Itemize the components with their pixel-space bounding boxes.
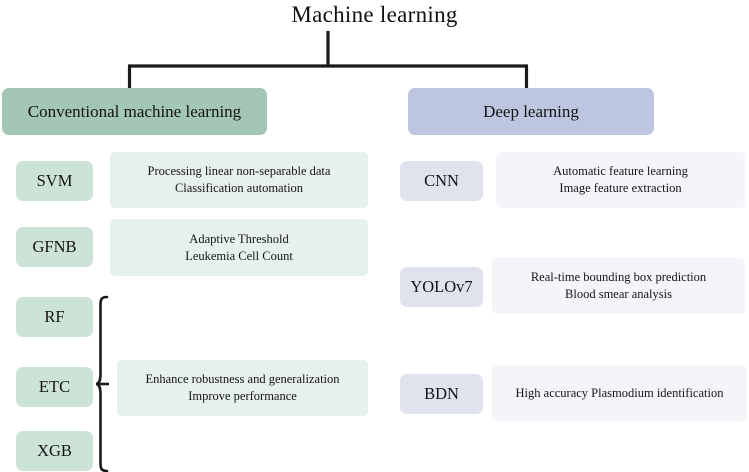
description-panel-yolov7: Real-time bounding box prediction Blood … (492, 258, 745, 314)
description-line: Processing linear non-separable data (148, 163, 331, 180)
grouping-brace-ensemble-methods (96, 294, 118, 472)
category-box-deep-learning[interactable]: Deep learning (408, 88, 654, 135)
description-line: Blood smear analysis (565, 286, 672, 303)
description-line: Classification automation (175, 180, 303, 197)
method-chip-bdn[interactable]: BDN (400, 374, 483, 414)
description-line: Image feature extraction (559, 180, 681, 197)
description-line: Leukemia Cell Count (185, 248, 293, 265)
description-panel-gfnb: Adaptive Threshold Leukemia Cell Count (110, 219, 368, 276)
description-line: Enhance robustness and generalization (145, 371, 339, 388)
method-chip-gfnb[interactable]: GFNB (16, 227, 93, 267)
description-line: Real-time bounding box prediction (531, 269, 706, 286)
method-chip-cnn[interactable]: CNN (400, 161, 483, 201)
method-chip-rf[interactable]: RF (16, 297, 93, 337)
description-panel-ensemble: Enhance robustness and generalization Im… (117, 360, 368, 416)
method-chip-yolov7[interactable]: YOLOv7 (400, 267, 483, 307)
method-chip-svm[interactable]: SVM (16, 161, 93, 201)
method-chip-etc[interactable]: ETC (16, 367, 93, 407)
diagram-title: Machine learning (0, 2, 749, 28)
description-panel-svm: Processing linear non-separable data Cla… (110, 152, 368, 208)
machine-learning-taxonomy-diagram: Machine learning Conventional machine le… (0, 0, 749, 472)
description-line: Improve performance (188, 388, 297, 405)
description-line: High accuracy Plasmodium identification (516, 385, 724, 402)
category-box-conventional-machine-learning[interactable]: Conventional machine learning (2, 88, 267, 135)
description-line: Automatic feature learning (553, 163, 688, 180)
description-panel-cnn: Automatic feature learning Image feature… (496, 152, 745, 208)
description-panel-bdn: High accuracy Plasmodium identification (492, 365, 747, 421)
method-chip-xgb[interactable]: XGB (16, 431, 93, 471)
description-line: Adaptive Threshold (189, 231, 288, 248)
